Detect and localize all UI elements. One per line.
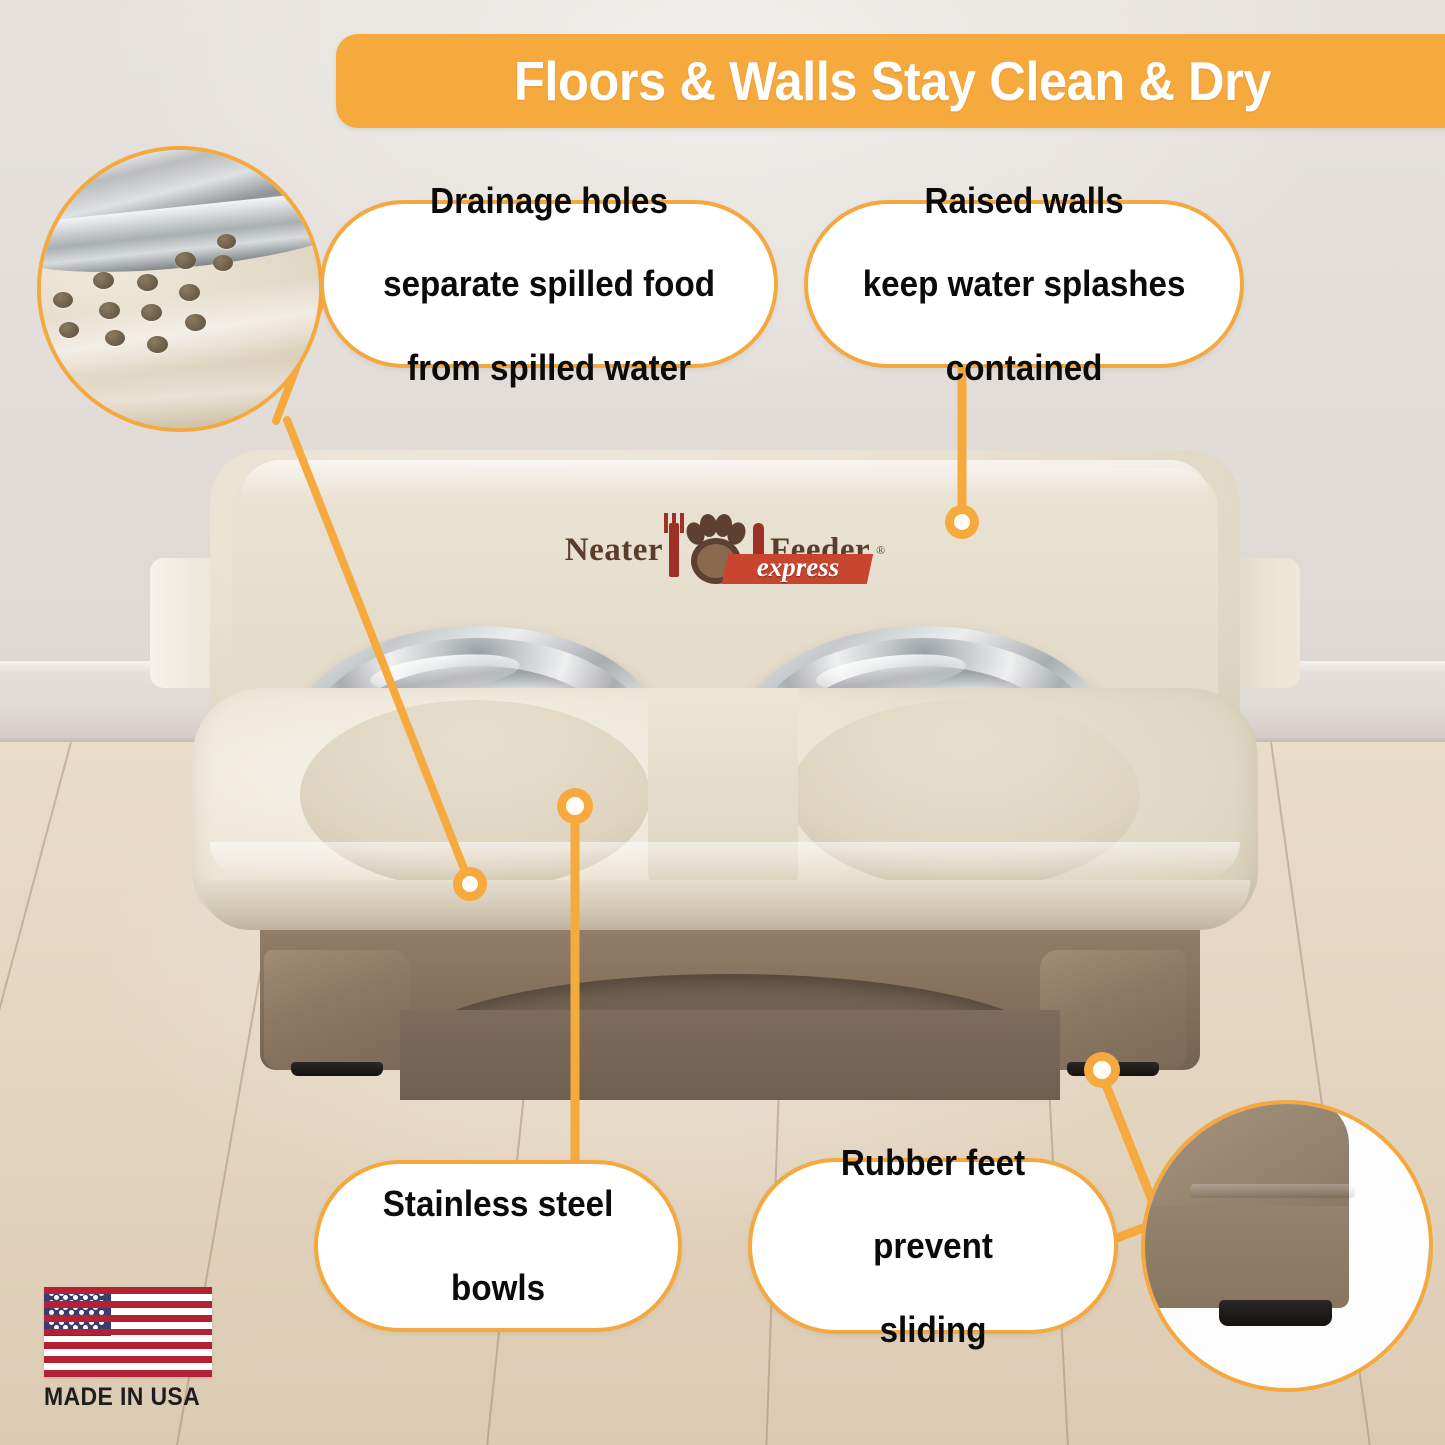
flag-stripe [44,1329,212,1336]
inset-rubber-pad [1219,1300,1333,1326]
usa-flag-icon [44,1287,212,1377]
flag-star [73,1295,78,1300]
flag-star [63,1295,68,1300]
drainage-hole [185,314,206,331]
drainage-hole [137,274,158,291]
callout-rubber-feet[interactable]: Rubber feet prevent sliding [748,1158,1118,1334]
drainage-holes-inset [37,146,323,432]
flag-star [54,1295,59,1300]
callout-rubber-feet-text: Rubber feet prevent sliding [810,1142,1056,1351]
callout-bowls-text: Stainless steel bowls [351,1183,645,1308]
pointer-dot-bowls [557,788,593,824]
inset-leg-edge-highlight [1190,1184,1355,1198]
drainage-hole [213,255,233,271]
drainage-hole [105,330,125,346]
drainage-hole [217,234,236,249]
connector-drainage-to-product [287,420,470,884]
flag-stripe [44,1315,212,1322]
callout-raised-walls[interactable]: Raised walls keep water splashes contain… [804,200,1244,368]
flag-stripe [44,1287,212,1294]
rubber-foot-inset [1141,1100,1433,1392]
pointer-dot-drainage [453,867,487,901]
flag-stripe [44,1342,212,1349]
pointer-dot-raised-walls [945,505,979,539]
flag-star [83,1295,88,1300]
drainage-hole [59,322,79,338]
flag-stripe [44,1301,212,1308]
inset-leg-lower [1141,1206,1349,1308]
made-in-usa-label: MADE IN USA [44,1383,208,1412]
callout-drainage-text: Drainage holes separate spilled food fro… [349,180,748,389]
drainage-hole [141,304,162,321]
callout-stainless-bowls[interactable]: Stainless steel bowls [314,1160,682,1332]
made-in-usa-badge: MADE IN USA [44,1287,222,1415]
flag-star [93,1295,98,1300]
flag-stripe [44,1356,212,1363]
drainage-hole [99,302,120,319]
flag-stripe [44,1370,212,1377]
drainage-hole [93,272,114,289]
callout-raised-walls-text: Raised walls keep water splashes contain… [829,180,1219,389]
infographic-canvas: Neater Feeder ® express [0,0,1445,1445]
drainage-hole [147,336,168,353]
pointer-dot-rubber-feet [1084,1052,1120,1088]
drainage-hole [179,284,200,301]
drainage-hole [175,252,196,269]
drainage-hole [53,292,73,308]
callout-drainage-holes[interactable]: Drainage holes separate spilled food fro… [320,200,778,368]
